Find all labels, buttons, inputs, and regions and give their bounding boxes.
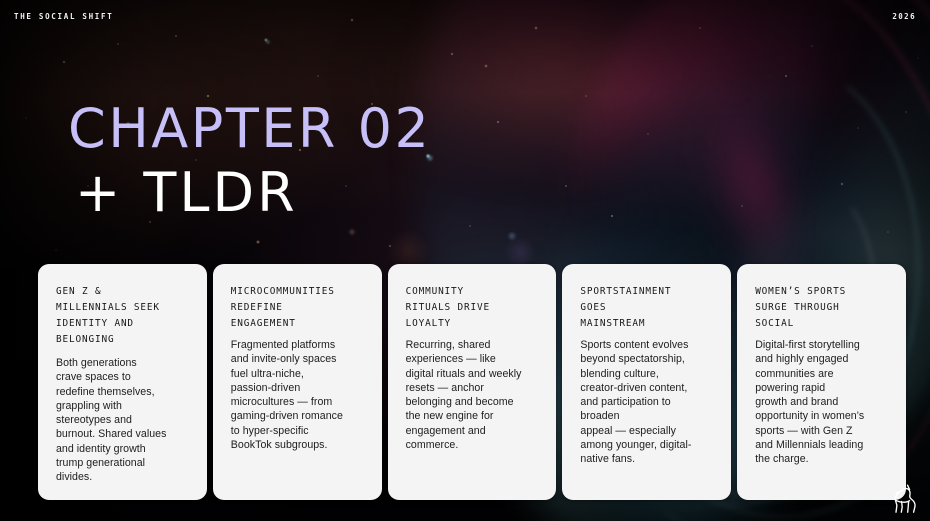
slide-canvas: THE SOCIAL SHIFT 2026 CHAPTER 02 + TLDR … [0,0,930,521]
insight-card-title: GEN Z & MILLENNIALS SEEK IDENTITY AND BE… [56,284,191,348]
page-title-tldr: + TLDR [68,161,431,225]
insight-card[interactable]: MICROCOMMUNITIES REDEFINE ENGAGEMENT Fra… [213,264,382,500]
page-title-chapter: CHAPTER 02 [68,97,431,161]
year-label: 2026 [892,12,916,21]
insight-card-title: COMMUNITY RITUALS DRIVE LOYALTY [406,284,541,332]
insight-card[interactable]: WOMEN’S SPORTS SURGE THROUGH SOCIAL Digi… [737,264,906,500]
unicorn-logo [882,481,924,517]
insight-card[interactable]: GEN Z & MILLENNIALS SEEK IDENTITY AND BE… [38,264,207,500]
insight-card-body: Both generations crave spaces to redefin… [56,356,191,485]
insight-card[interactable]: SPORTSTAINMENT GOES MAINSTREAM Sports co… [562,264,731,500]
insight-card-body: Digital-first storytelling and highly en… [755,338,890,467]
insight-card[interactable]: COMMUNITY RITUALS DRIVE LOYALTY Recurrin… [388,264,557,500]
page-title: CHAPTER 02 + TLDR [68,97,431,225]
insight-card-title: MICROCOMMUNITIES REDEFINE ENGAGEMENT [231,284,366,332]
insight-card-title: WOMEN’S SPORTS SURGE THROUGH SOCIAL [755,284,890,332]
insight-card-row: GEN Z & MILLENNIALS SEEK IDENTITY AND BE… [38,264,906,500]
insight-card-body: Sports content evolves beyond spectators… [580,338,715,467]
insight-card-title: SPORTSTAINMENT GOES MAINSTREAM [580,284,715,332]
brand-label: THE SOCIAL SHIFT [14,12,113,21]
slide-header: THE SOCIAL SHIFT 2026 [0,0,930,32]
insight-card-body: Recurring, shared experiences — like dig… [406,338,541,452]
insight-card-body: Fragmented platforms and invite-only spa… [231,338,366,452]
